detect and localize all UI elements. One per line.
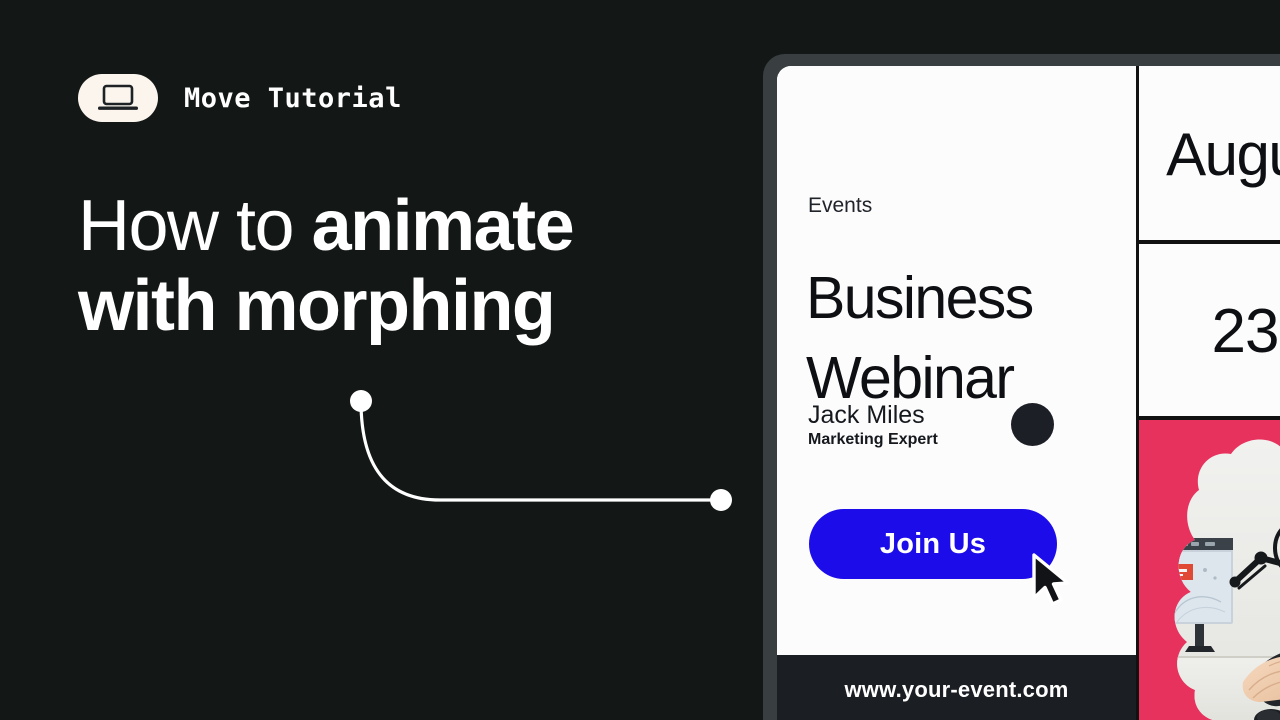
brand-lockup: Move Tutorial — [78, 74, 402, 122]
poster-eyebrow: Events — [808, 194, 872, 218]
podcast-workspace-photo — [1139, 420, 1280, 720]
headline-line-2: with morphing — [78, 266, 778, 346]
join-us-button[interactable]: Join Us — [809, 509, 1057, 579]
headline-bold-text: animate — [312, 186, 574, 266]
poster-left-panel: Events Business Webinar Jack Miles Marke… — [777, 66, 1136, 720]
poster-heading: Business Webinar — [806, 258, 1033, 418]
tutorial-thumbnail-canvas: Move Tutorial How to animate with morphi… — [0, 0, 1280, 720]
calendar-day-cell: 23 — [1139, 244, 1280, 418]
motion-path-end-handle[interactable] — [710, 489, 732, 511]
poster-photo-block — [1139, 420, 1280, 720]
headline-regular-text: How to — [78, 186, 312, 266]
poster-artboard: Events Business Webinar Jack Miles Marke… — [777, 66, 1280, 720]
motion-path-curve — [361, 401, 721, 500]
poster-footer-url: www.your-event.com — [844, 677, 1068, 703]
device-frame: Events Business Webinar Jack Miles Marke… — [763, 54, 1280, 720]
speaker-role: Marketing Expert — [808, 431, 938, 449]
calendar-month-cell: August — [1139, 66, 1280, 242]
headline-line-1: How to animate — [78, 186, 778, 266]
avatar — [1011, 403, 1054, 446]
motion-path-graphic — [330, 370, 760, 540]
speaker-name: Jack Miles — [808, 401, 925, 430]
brand-badge — [78, 74, 158, 122]
poster-footer: www.your-event.com — [777, 655, 1136, 720]
poster-right-panel: August 23 — [1139, 66, 1280, 720]
brand-title: Move Tutorial — [184, 83, 402, 114]
poster-heading-line-1: Business — [806, 258, 1033, 338]
calendar-day: 23 — [1212, 296, 1279, 367]
page-title: How to animate with morphing — [78, 186, 778, 346]
laptop-icon — [97, 84, 139, 112]
motion-path-start-handle[interactable] — [350, 390, 372, 412]
calendar-month: August — [1166, 120, 1280, 189]
